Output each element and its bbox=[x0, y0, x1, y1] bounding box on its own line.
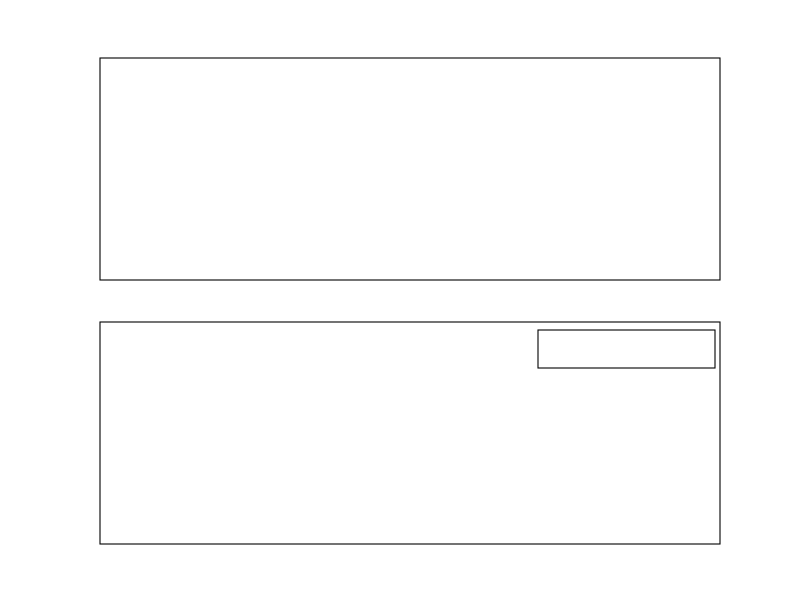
figure-canvas bbox=[0, 0, 800, 600]
figure-background bbox=[0, 0, 800, 600]
matplotlib-figure bbox=[0, 0, 800, 600]
legend-box bbox=[538, 330, 715, 368]
legend[interactable] bbox=[538, 330, 715, 368]
